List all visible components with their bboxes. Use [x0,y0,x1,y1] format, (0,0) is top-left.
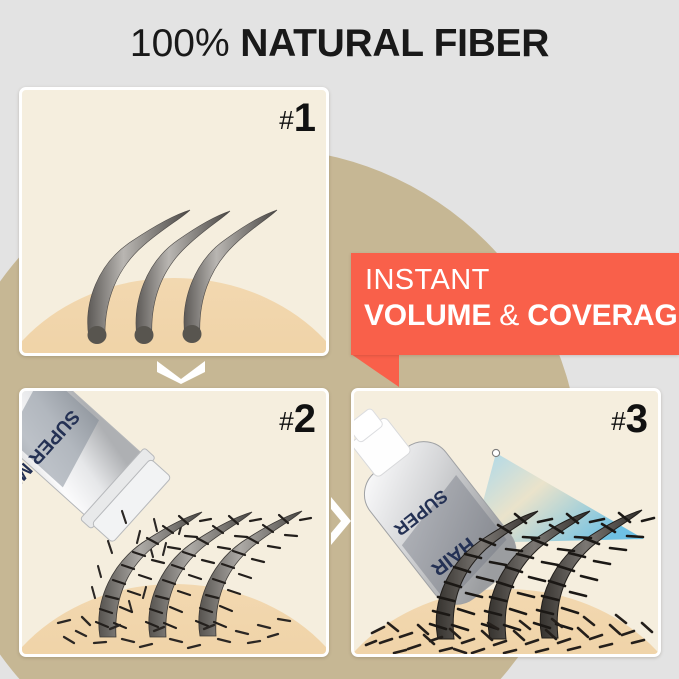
step-panel-1: #1 [19,87,329,356]
banner-tail [351,354,399,387]
title-percent: 100% [130,22,230,65]
banner-coverage: COVERAGE [527,299,679,332]
hash-symbol-2: # [279,406,293,436]
number-3: 3 [626,397,647,441]
number-1: 1 [294,96,315,140]
nozzle-dot [492,449,499,456]
step-panel-3: SUPER HAIR [351,388,661,657]
number-2: 2 [294,397,315,441]
hash-symbol-1: # [279,105,293,135]
title-main: NATURAL FIBER [240,22,549,65]
scattered-fibers-scalp-2 [58,617,290,648]
hash-symbol-3: # [611,406,625,436]
banner-ampersand: & [499,299,519,332]
page-title: 100% NATURAL FIBER [0,22,679,66]
fiber-bed-scalp-3 [366,615,652,653]
banner-volume: VOLUME [364,299,491,332]
chevron-down-icon [155,357,207,385]
infographic-stage: 100% NATURAL FIBER [0,0,679,679]
banner-line-1: INSTANT [365,264,490,297]
chevron-right-icon [329,495,353,547]
banner-line-2: VOLUME & COVERAGE [364,299,679,333]
promo-banner: INSTANT VOLUME & COVERAGE [351,253,679,355]
step-number-3: #3 [611,397,647,442]
step-number-1: #1 [279,96,315,141]
step-panel-2: SUPER MILL [19,388,329,657]
step-number-2: #2 [279,397,315,442]
